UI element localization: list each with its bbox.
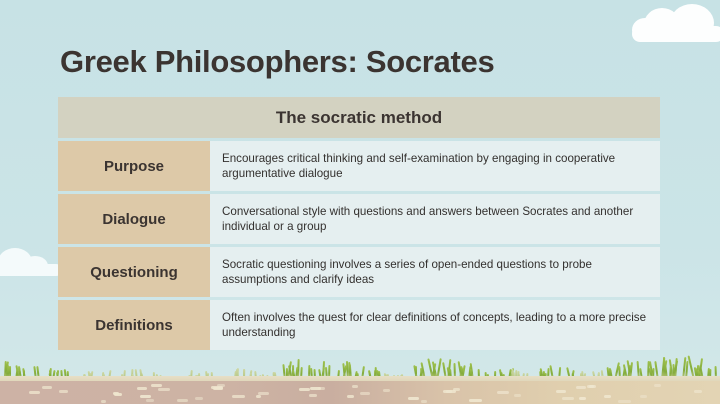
row-description-questioning: Socratic questioning involves a series o… — [210, 247, 660, 297]
cloud-icon-left — [0, 246, 64, 280]
row-description-dialogue: Conversational style with questions and … — [210, 194, 660, 244]
cloud-icon-top-right — [632, 4, 720, 44]
dirt-band — [0, 381, 720, 404]
row-label-questioning: Questioning — [58, 247, 210, 297]
socratic-method-table: The socratic method Purpose Encourages c… — [58, 97, 660, 350]
table-row: Questioning Socratic questioning involve… — [58, 247, 660, 297]
row-label-dialogue: Dialogue — [58, 194, 210, 244]
table-row: Dialogue Conversational style with quest… — [58, 194, 660, 244]
row-label-purpose: Purpose — [58, 141, 210, 191]
row-description-purpose: Encourages critical thinking and self-ex… — [210, 141, 660, 191]
slide-canvas: Greek Philosophers: Socrates The socrati… — [0, 0, 720, 404]
row-description-definitions: Often involves the quest for clear defin… — [210, 300, 660, 350]
table-row: Purpose Encourages critical thinking and… — [58, 141, 660, 191]
page-title: Greek Philosophers: Socrates — [60, 44, 494, 80]
table-row: Definitions Often involves the quest for… — [58, 300, 660, 350]
row-label-definitions: Definitions — [58, 300, 210, 350]
table-header: The socratic method — [58, 97, 660, 138]
